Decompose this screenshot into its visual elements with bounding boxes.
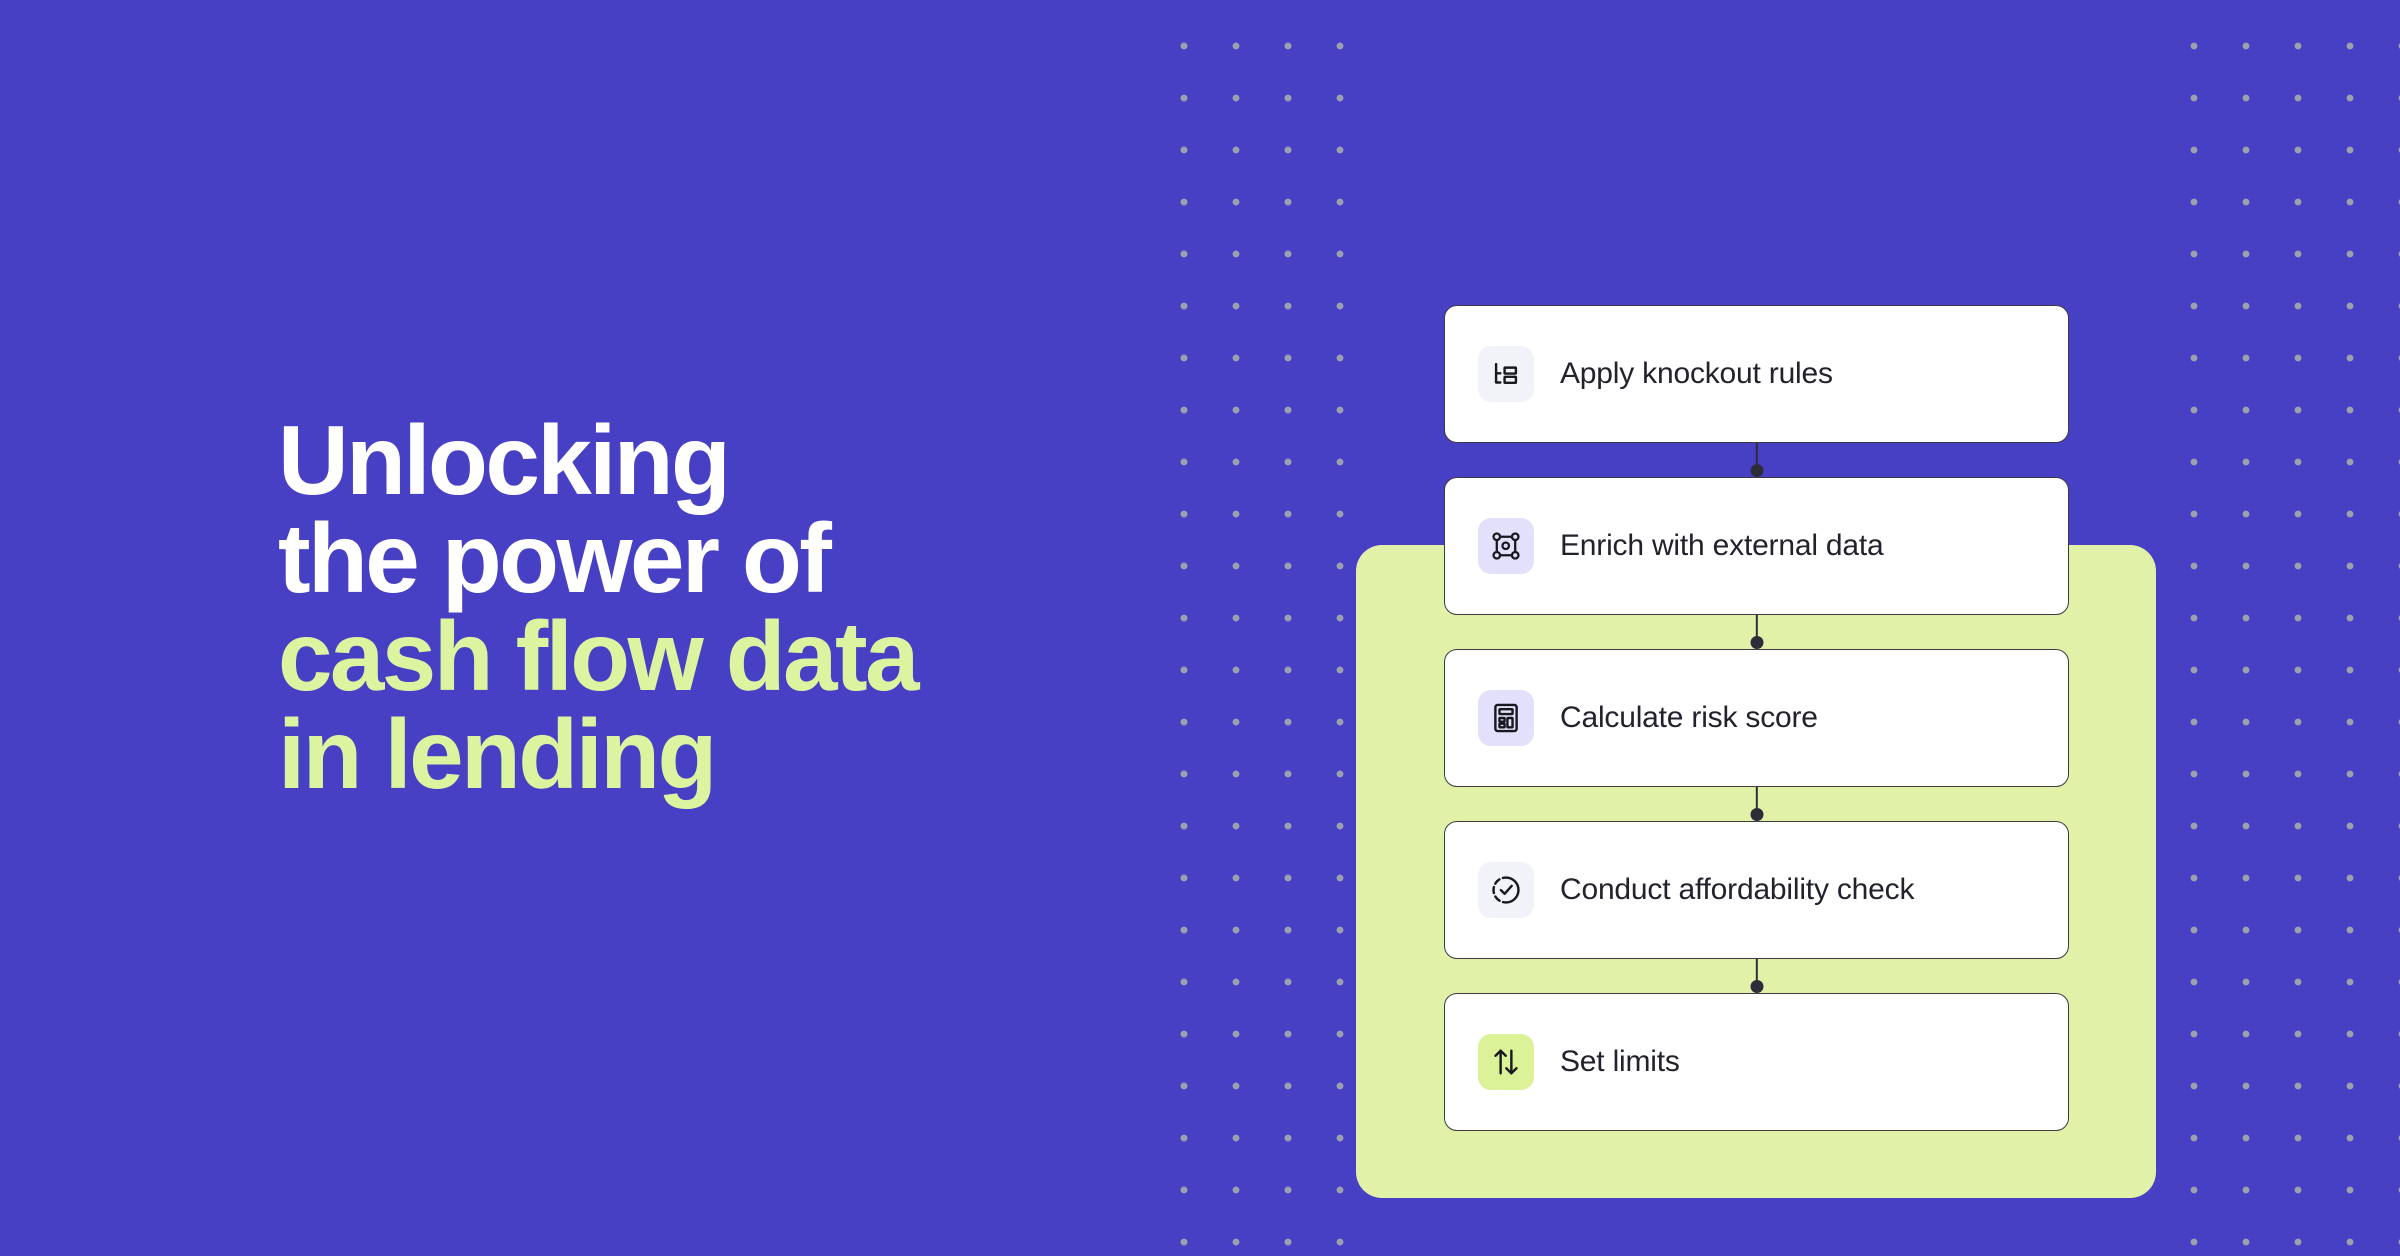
flow-step-card[interactable]: Enrich with external data	[1444, 477, 2069, 615]
connector-dot	[1750, 636, 1763, 649]
dot-pattern-right	[2158, 0, 2400, 1256]
flow-step-label: Enrich with external data	[1560, 529, 1884, 563]
flow-step-card[interactable]: Calculate risk score	[1444, 649, 2069, 787]
connector-dot	[1750, 464, 1763, 477]
dashed-circle-check-icon	[1478, 862, 1534, 918]
hierarchy-icon	[1478, 346, 1534, 402]
headline-line-2: the power of	[278, 509, 1178, 607]
arrows-up-down-icon	[1478, 1034, 1534, 1090]
headline-line-1: Unlocking	[278, 411, 1178, 509]
page-title: Unlocking the power of cash flow data in…	[278, 411, 1178, 803]
flow-step-card[interactable]: Conduct affordability check	[1444, 821, 2069, 959]
flow-step-label: Apply knockout rules	[1560, 357, 1833, 391]
connector-dot	[1750, 808, 1763, 821]
headline-line-3: cash flow data	[278, 607, 1178, 705]
calculator-icon	[1478, 690, 1534, 746]
flow-step-label: Set limits	[1560, 1045, 1680, 1079]
flow-step-label: Conduct affordability check	[1560, 873, 1914, 907]
flow-step-label: Calculate risk score	[1560, 701, 1818, 735]
flow-connector	[1444, 787, 2069, 821]
flow-connector	[1444, 959, 2069, 993]
flow-step-card[interactable]: Apply knockout rules	[1444, 305, 2069, 443]
network-nodes-icon	[1478, 518, 1534, 574]
flow-step-list: Apply knockout rules E	[1444, 305, 2069, 1131]
headline-line-4: in lending	[278, 705, 1178, 803]
flow-connector	[1444, 615, 2069, 649]
poster-canvas: Unlocking the power of cash flow data in…	[0, 0, 2400, 1256]
dot-pattern-left	[1148, 0, 1356, 1256]
flow-step-card[interactable]: Set limits	[1444, 993, 2069, 1131]
connector-dot	[1750, 980, 1763, 993]
flow-connector	[1444, 443, 2069, 477]
